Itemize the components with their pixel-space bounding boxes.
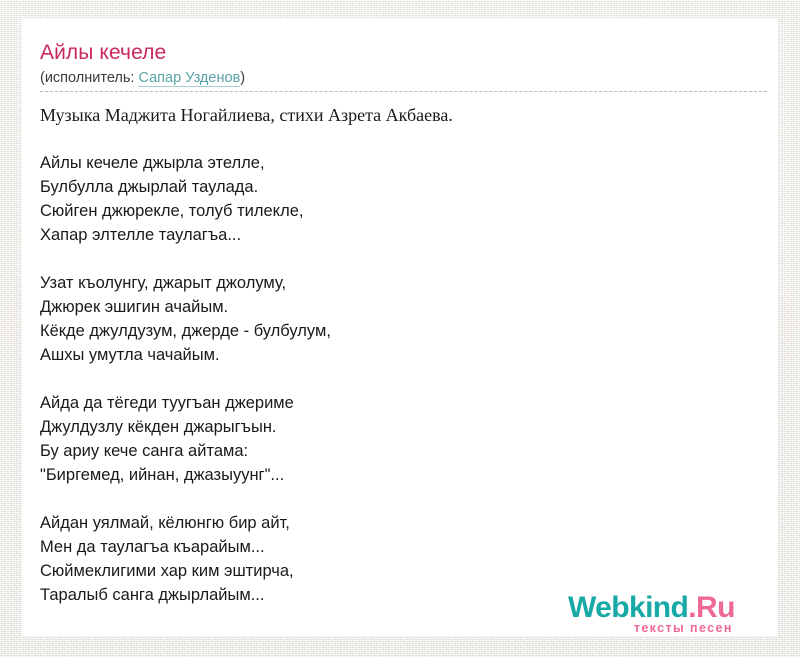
- logo-tld-text: .Ru: [688, 591, 735, 624]
- lyric-line: Айда да тёгеди туугъан джериме: [40, 391, 764, 415]
- lyrics-stanza: Узат къолунгу, джарыт джолуму, Джюрек эш…: [40, 271, 764, 367]
- lyric-line: Булбулла джырлай таулада.: [40, 175, 764, 199]
- lyrics-body: Музыка Маджита Ногайлиева, стихи Азрета …: [40, 103, 764, 607]
- lyric-line: Айлы кечеле джырла этелле,: [40, 151, 764, 175]
- artist-prefix-label: (исполнитель:: [40, 70, 138, 86]
- logo-name-text: Webkind: [568, 591, 688, 624]
- song-header: Айлы кечеле (исполнитель: Сапар Узденов): [40, 40, 764, 92]
- lyric-line: "Биргемед, ийнан, джазыуунг"...: [40, 463, 764, 487]
- lyric-line: Ашхы умутла чачайым.: [40, 343, 764, 367]
- page-title: Айлы кечеле: [40, 40, 764, 66]
- lyric-line: Мен да таулагъа къарайым...: [40, 535, 764, 559]
- content-card: Айлы кечеле (исполнитель: Сапар Узденов)…: [22, 18, 778, 636]
- lyric-line: Джулдузлу кёкден джарыгъын.: [40, 415, 764, 439]
- artist-suffix-label: ): [240, 70, 245, 86]
- lyric-line: Кёкде джулдузум, джерде - булбулум,: [40, 319, 764, 343]
- credits-line: Музыка Маджита Ногайлиева, стихи Азрета …: [40, 103, 764, 127]
- artist-link[interactable]: Сапар Узденов: [138, 70, 240, 87]
- site-logo[interactable]: Webkind.Ru тексты песен: [568, 592, 735, 635]
- lyrics-stanza: Айлы кечеле джырла этелле, Булбулла джыр…: [40, 151, 764, 247]
- lyric-line: Бу ариу кече санга айтама:: [40, 439, 764, 463]
- lyric-line: Хапар элтелле таулагъа...: [40, 223, 764, 247]
- artist-line: (исполнитель: Сапар Узденов): [40, 69, 764, 88]
- lyric-line: Сюймеклигими хар ким эштирча,: [40, 559, 764, 583]
- lyric-line: Узат къолунгу, джарыт джолуму,: [40, 271, 764, 295]
- lyric-line: Айдан уялмай, кёлюнгю бир айт,: [40, 511, 764, 535]
- lyric-line: Джюрек эшигин ачайым.: [40, 295, 764, 319]
- lyrics-stanza: Айда да тёгеди туугъан джериме Джулдузлу…: [40, 391, 764, 487]
- header-divider: [40, 91, 767, 92]
- lyric-line: Сюйген джюрекле, толуб тилекле,: [40, 199, 764, 223]
- logo-wordmark: Webkind.Ru: [568, 592, 735, 624]
